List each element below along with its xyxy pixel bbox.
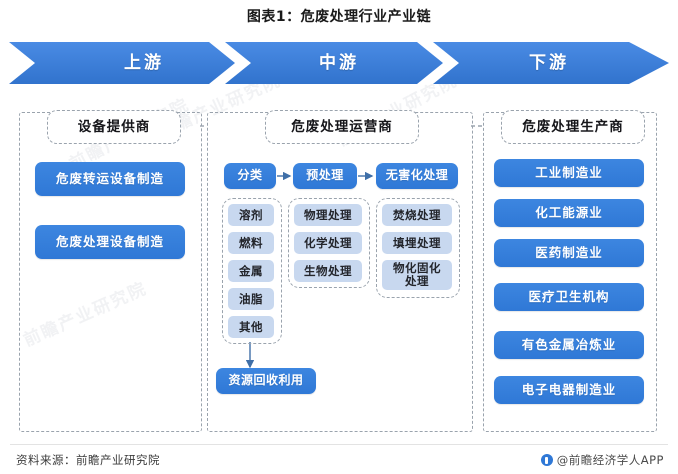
chip-physical-treatment[interactable]: 物理处理 [294,204,362,226]
chip-landfill[interactable]: 填埋处理 [382,232,452,254]
source-note: 资料来源：前瞻产业研究院 [16,452,160,468]
brand-logo-icon [541,454,553,466]
downstream-item-4[interactable]: 医疗卫生机构 [494,283,644,311]
chip-solvent[interactable]: 溶剂 [228,204,274,226]
chip-solidification[interactable]: 物化固化 处理 [382,260,452,290]
panel-midstream-header: 危废处理运营商 [265,110,419,144]
downstream-item-6[interactable]: 电子电器制造业 [494,376,644,404]
chip-chemical-treatment[interactable]: 化学处理 [294,232,362,254]
chip-fuel[interactable]: 燃料 [228,232,274,254]
downstream-item-5[interactable]: 有色金属冶炼业 [494,331,644,359]
footer-divider [10,444,668,445]
chip-metal[interactable]: 金属 [228,260,274,282]
chip-grease[interactable]: 油脂 [228,288,274,310]
chip-other[interactable]: 其他 [228,316,274,338]
chart-canvas: 前瞻产业研究院 前瞻产业研究院 前瞻产业研究院 前瞻产业研究院 图表1：危废处理… [0,0,678,474]
downstream-item-2[interactable]: 化工能源业 [494,199,644,227]
downstream-item-3[interactable]: 医药制造业 [494,239,644,267]
chip-biological-treatment[interactable]: 生物处理 [294,260,362,282]
brand-credit: @前瞻经济学人APP [541,452,664,468]
midstream-output-recycling[interactable]: 资源回收利用 [216,368,316,394]
panel-downstream-header: 危废处理生产商 [501,110,645,144]
chip-incineration[interactable]: 焚烧处理 [382,204,452,226]
downstream-item-1[interactable]: 工业制造业 [494,159,644,187]
brand-credit-label: @前瞻经济学人APP [557,452,664,468]
panel-upstream-header: 设备提供商 [47,110,181,144]
